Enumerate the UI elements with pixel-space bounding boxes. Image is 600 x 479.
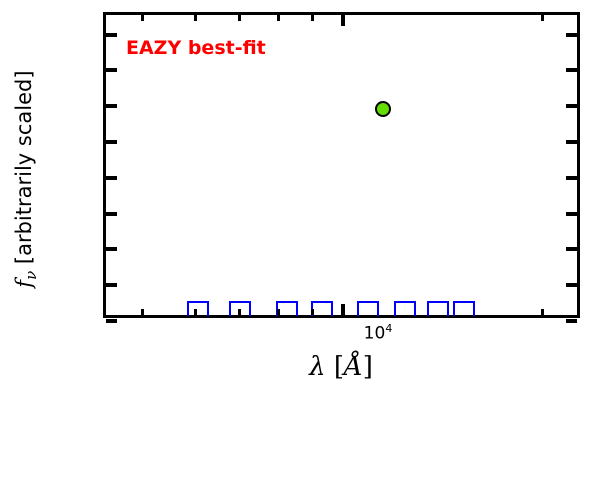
x-tick-label-1e4: 104 — [364, 322, 393, 344]
x-axis-minor-tick — [141, 309, 144, 315]
photometry-square-marker — [187, 301, 209, 316]
x-axis-minor-tick-top — [141, 15, 144, 21]
x-axis-minor-tick-top — [541, 15, 544, 21]
photometry-square-marker — [427, 301, 449, 316]
y-axis-major-tick — [106, 283, 117, 287]
y-axis-major-tick-right — [566, 319, 577, 323]
x-axis-minor-tick — [311, 309, 314, 315]
x-axis-minor-tick — [238, 309, 241, 315]
y-axis-major-tick — [106, 104, 117, 108]
y-axis-major-tick-right — [566, 212, 577, 216]
x-axis-minor-tick-top — [238, 15, 241, 21]
y-axis-major-tick-right — [566, 104, 577, 108]
x-tick-exponent: 4 — [385, 322, 392, 335]
x-tick-mantissa: 10 — [364, 324, 386, 344]
y-axis-major-tick — [106, 68, 117, 72]
x-axis-minor-tick-top — [277, 15, 280, 21]
x-axis-minor-tick — [541, 309, 544, 315]
y-axis-major-tick-right — [566, 247, 577, 251]
y-axis-major-tick-right — [566, 283, 577, 287]
x-axis-minor-tick-top — [311, 15, 314, 21]
plot-data-area — [106, 15, 577, 315]
y-axis-major-tick-right — [566, 68, 577, 72]
x-axis-major-tick-top — [341, 15, 345, 26]
y-axis-major-tick-right — [566, 176, 577, 180]
y-axis-title: fν [arbitrarily scaled] — [12, 0, 40, 479]
x-axis-title-lambda: λ — [309, 352, 325, 382]
photometry-square-marker — [311, 301, 333, 316]
x-axis-minor-tick — [194, 309, 197, 315]
x-axis-title-unit: Å — [344, 352, 363, 382]
photometry-square-marker — [357, 301, 379, 316]
x-axis-minor-tick-top — [194, 15, 197, 21]
y-axis-major-tick-right — [566, 140, 577, 144]
plot-axes-frame: EAZY best-fit — [103, 12, 580, 318]
sed-flux-point-marker — [375, 101, 391, 117]
y-axis-major-tick — [106, 212, 117, 216]
x-axis-major-tick — [341, 304, 345, 315]
y-axis-title-nu: ν — [22, 271, 40, 280]
photometry-square-marker — [394, 301, 416, 316]
x-axis-title-bracket-close: ] — [363, 352, 373, 382]
photometry-square-marker — [453, 301, 475, 316]
x-axis-title-bracket-open: [ — [326, 352, 344, 382]
y-axis-title-f: f — [12, 280, 36, 288]
y-axis-major-tick — [106, 247, 117, 251]
figure-canvas: 0.0000.0010.0020.0030.0040.0050.0060.007… — [0, 0, 600, 400]
x-axis-title: λ [Å] — [309, 352, 373, 382]
y-axis-major-tick — [106, 33, 117, 37]
y-axis-major-tick — [106, 140, 117, 144]
y-axis-major-tick-right — [566, 33, 577, 37]
y-axis-major-tick — [106, 319, 117, 323]
x-axis-minor-tick — [277, 309, 280, 315]
y-axis-title-rest: [arbitrarily scaled] — [12, 70, 36, 270]
y-axis-major-tick — [106, 176, 117, 180]
